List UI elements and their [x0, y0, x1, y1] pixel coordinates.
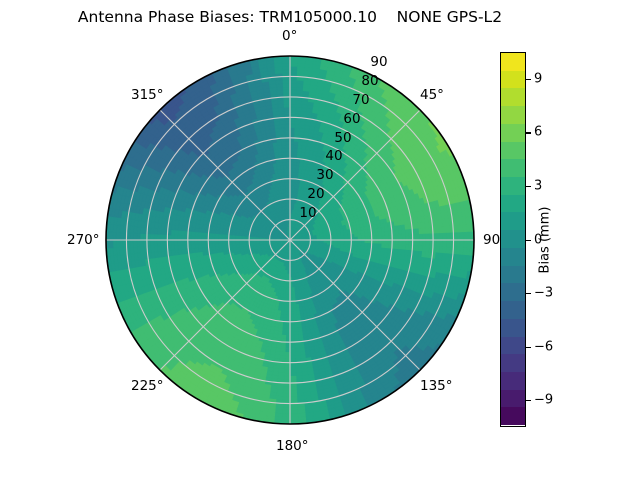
contour-cell — [290, 151, 294, 154]
contour-cell — [290, 329, 294, 332]
contour-cell — [358, 234, 362, 237]
contour-cell — [283, 165, 286, 169]
contour-cell — [286, 141, 290, 144]
contour-cell — [293, 311, 296, 315]
contour-cell — [195, 236, 199, 240]
contour-cell — [293, 308, 296, 312]
contour-cell — [385, 240, 388, 244]
contour-cell — [286, 148, 290, 151]
contour-cell — [382, 240, 386, 244]
contour-cell — [385, 236, 388, 240]
contour-cell — [174, 240, 178, 245]
contour-cell — [285, 352, 290, 356]
contour-cell — [198, 236, 201, 240]
contour-cell — [174, 235, 178, 240]
contour-cell — [286, 335, 290, 338]
contour-cell — [399, 240, 403, 245]
contour-cell — [286, 325, 290, 328]
contour-cell — [379, 240, 382, 244]
contour-cell — [290, 325, 294, 328]
contour-cell — [396, 240, 400, 245]
contour-cell — [402, 240, 406, 245]
contour-cell — [286, 332, 290, 336]
contour-cell — [290, 335, 294, 338]
contour-cell — [191, 240, 194, 244]
contour-cell — [361, 233, 365, 236]
contour-cell — [285, 356, 290, 360]
contour-cell — [191, 236, 194, 240]
contour-cell — [198, 240, 201, 244]
contour-cell — [285, 131, 290, 135]
contour-cell — [290, 148, 294, 151]
contour-cell — [181, 235, 185, 240]
contour-cell — [285, 349, 290, 353]
contour-cell — [286, 145, 290, 149]
contour-cell — [290, 121, 295, 125]
contour-cell — [290, 128, 295, 132]
contour-cell — [286, 329, 290, 332]
contour-cell — [290, 346, 295, 350]
contour-cell — [406, 235, 410, 240]
contour-cell — [285, 128, 290, 132]
contour-cell — [375, 236, 378, 240]
contour-cell — [290, 131, 295, 135]
contour-cell — [290, 145, 294, 149]
contour-cell — [178, 240, 182, 245]
contour-cell — [285, 346, 290, 350]
contour-cell — [290, 141, 294, 144]
contour-cell — [285, 124, 290, 128]
contour-cell — [219, 243, 223, 246]
contour-cell — [181, 240, 185, 245]
polar-chart-figure: Antenna Phase Biases: TRM105000.10 NONE … — [0, 0, 640, 480]
contour-cell — [375, 240, 378, 244]
contour-cell — [399, 235, 403, 240]
page-title: Antenna Phase Biases: TRM105000.10 NONE … — [0, 8, 580, 26]
contour-cell — [195, 240, 199, 244]
polar-plot-svg — [105, 55, 475, 425]
contour-cell — [406, 240, 410, 245]
contour-cell — [290, 332, 294, 336]
contour-cell — [290, 352, 295, 356]
contour-cell — [290, 356, 295, 360]
contour-cell — [215, 243, 219, 246]
contour-cell — [290, 349, 295, 353]
contour-cell — [379, 236, 382, 240]
contour-cell — [402, 235, 406, 240]
contour-cell — [178, 235, 182, 240]
contour-cell — [201, 236, 204, 240]
contour-cell — [382, 236, 386, 240]
contour-cell — [290, 124, 295, 128]
contour-cell — [396, 235, 400, 240]
polar-axes — [105, 55, 475, 425]
contour-cell — [284, 169, 287, 173]
contour-cell — [286, 151, 290, 154]
contour-cell — [201, 240, 204, 244]
